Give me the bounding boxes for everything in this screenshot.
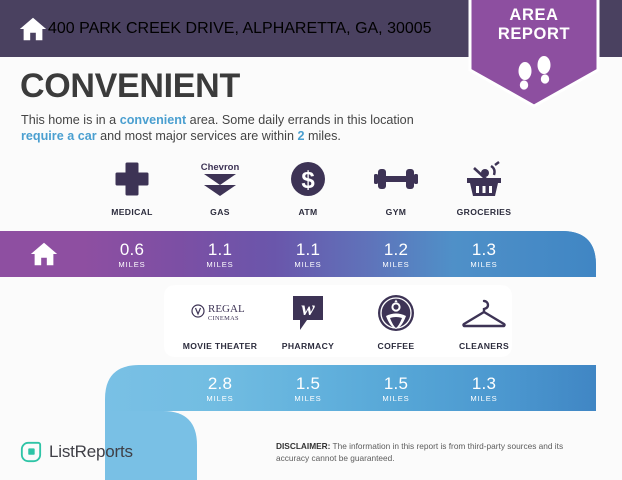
amenity-label: GAS <box>210 207 230 217</box>
amenity-label: GYM <box>386 207 407 217</box>
amenity-movie-theater[interactable]: REGAL CINEMAS MOVIE THEATER <box>176 292 264 351</box>
page-description: This home is in a convenient area. Some … <box>21 112 451 144</box>
medical-cross-icon <box>102 158 162 200</box>
amenity-icon-row-2: REGAL CINEMAS MOVIE THEATER w PHARMACY <box>176 292 528 351</box>
svg-text:Chevron: Chevron <box>201 162 240 173</box>
amenity-label: GROCERIES <box>457 207 512 217</box>
svg-text:w: w <box>301 298 315 320</box>
desc-highlight-miles: 2 <box>297 129 304 143</box>
distance-unit: MILES <box>382 260 409 269</box>
distance-segment: 1.1 MILES <box>176 231 264 277</box>
distance-value: 0.6 <box>120 240 144 259</box>
distance-segment: 1.1 MILES <box>264 231 352 277</box>
amenity-coffee[interactable]: COFFEE <box>352 292 440 351</box>
desc-part-1: This home is in a <box>21 113 120 127</box>
disclaimer: DISCLAIMER: The information in this repo… <box>276 441 592 464</box>
amenity-label: CLEANERS <box>459 341 509 351</box>
amenity-pharmacy[interactable]: w PHARMACY <box>264 292 352 351</box>
amenity-groceries[interactable]: GROCERIES <box>440 158 528 217</box>
hanger-icon <box>454 292 514 334</box>
home-icon <box>29 239 59 269</box>
amenity-icon-row-1: MEDICAL Chevron GAS $ ATM <box>88 158 528 217</box>
dumbbell-icon <box>366 158 426 200</box>
distance-segment: 2.8 MILES <box>176 365 264 411</box>
home-marker-segment <box>0 231 88 277</box>
distance-value: 1.1 <box>296 240 320 259</box>
amenity-label: MEDICAL <box>111 207 153 217</box>
desc-highlight-convenient: convenient <box>120 113 186 127</box>
home-icon <box>18 14 48 44</box>
desc-part-2: area. Some daily errands in this locatio… <box>186 113 414 127</box>
distance-segment: 0.6 MILES <box>88 231 176 277</box>
distance-row-2: 2.8 MILES 1.5 MILES 1.5 MILES 1.3 MILES <box>176 365 528 411</box>
distance-value: 1.1 <box>208 240 232 259</box>
amenity-label: MOVIE THEATER <box>183 341 258 351</box>
svg-text:CINEMAS: CINEMAS <box>208 315 239 322</box>
amenity-medical[interactable]: MEDICAL <box>88 158 176 217</box>
logo-text: ListReports <box>49 442 133 462</box>
distance-unit: MILES <box>206 260 233 269</box>
chevron-gas-icon: Chevron <box>190 158 250 200</box>
distance-row-1: 0.6 MILES 1.1 MILES 1.1 MILES 1.2 MILES … <box>88 231 528 277</box>
distance-segment: 1.3 MILES <box>440 365 528 411</box>
distance-segment: 1.5 MILES <box>264 365 352 411</box>
distance-value: 1.3 <box>472 240 496 259</box>
badge-line-1: AREA <box>466 6 602 25</box>
distance-unit: MILES <box>294 260 321 269</box>
desc-part-3: and most major services are within <box>97 129 298 143</box>
distance-unit: MILES <box>470 394 497 403</box>
distance-unit: MILES <box>206 394 233 403</box>
badge-label: AREA REPORT <box>466 6 602 44</box>
distance-value: 2.8 <box>208 374 232 393</box>
listreports-logo[interactable]: ListReports <box>20 441 133 463</box>
listreports-pin-icon <box>20 441 42 463</box>
distance-value: 1.5 <box>384 374 408 393</box>
area-report-badge: AREA REPORT <box>466 0 602 110</box>
grocery-basket-icon <box>454 158 514 200</box>
regal-cinemas-icon: REGAL CINEMAS <box>190 292 250 334</box>
distance-unit: MILES <box>382 394 409 403</box>
dollar-circle-icon: $ <box>278 158 338 200</box>
svg-text:$: $ <box>301 167 315 194</box>
page-title: CONVENIENT <box>20 67 240 106</box>
distance-segment: 1.5 MILES <box>352 365 440 411</box>
distance-value: 1.5 <box>296 374 320 393</box>
distance-segment: 1.3 MILES <box>440 231 528 277</box>
disclaimer-label: DISCLAIMER: <box>276 441 330 451</box>
desc-part-4: miles. <box>305 129 341 143</box>
distance-value: 1.3 <box>472 374 496 393</box>
distance-unit: MILES <box>470 260 497 269</box>
amenity-cleaners[interactable]: CLEANERS <box>440 292 528 351</box>
amenity-label: COFFEE <box>378 341 415 351</box>
amenity-gas[interactable]: Chevron GAS <box>176 158 264 217</box>
distance-segment: 1.2 MILES <box>352 231 440 277</box>
starbucks-icon <box>366 292 426 334</box>
svg-text:REGAL: REGAL <box>208 303 245 315</box>
address-text: 400 PARK CREEK DRIVE, ALPHARETTA, GA, 30… <box>48 20 432 38</box>
amenity-gym[interactable]: GYM <box>352 158 440 217</box>
badge-line-2: REPORT <box>466 25 602 44</box>
desc-highlight-require-a-car: require a car <box>21 129 97 143</box>
distance-unit: MILES <box>118 260 145 269</box>
distance-unit: MILES <box>294 394 321 403</box>
walgreens-w-icon: w <box>278 292 338 334</box>
distance-value: 1.2 <box>384 240 408 259</box>
amenity-label: ATM <box>298 207 317 217</box>
amenity-atm[interactable]: $ ATM <box>264 158 352 217</box>
amenity-label: PHARMACY <box>282 341 334 351</box>
